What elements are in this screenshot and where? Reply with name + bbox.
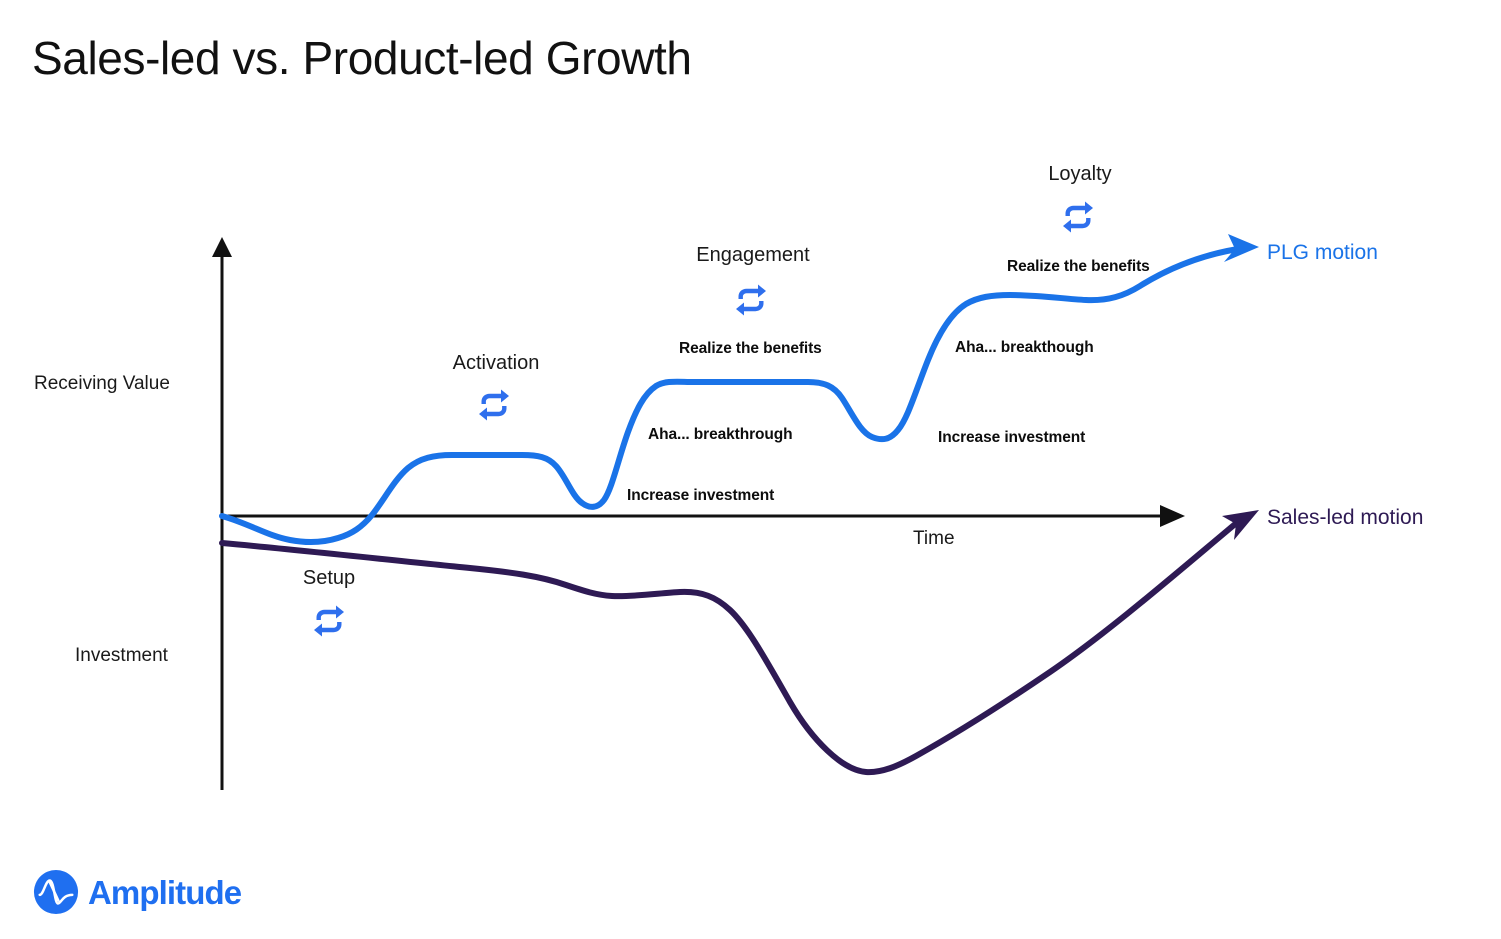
annotation-realize-benefits-1: Realize the benefits <box>679 340 822 358</box>
loop-repeat-icon <box>474 385 514 425</box>
chart-svg <box>0 0 1501 939</box>
stage-label-engagement: Engagement <box>663 244 843 267</box>
amplitude-logo-icon <box>33 869 79 915</box>
annotation-increase-investment-1: Increase investment <box>627 487 774 505</box>
y-axis-lower-label: Investment <box>75 645 168 667</box>
stage-label-loyalty: Loyalty <box>990 163 1170 186</box>
amplitude-logo: Amplitude <box>33 869 241 915</box>
loop-repeat-icon <box>731 280 771 320</box>
annotation-realize-benefits-2: Realize the benefits <box>1007 258 1150 276</box>
loop-repeat-icon <box>309 601 349 641</box>
series-label-sales-led-motion: Sales-led motion <box>1267 506 1423 530</box>
amplitude-wordmark: Amplitude <box>88 876 241 909</box>
annotation-increase-investment-2: Increase investment <box>938 429 1085 447</box>
sales-led-arrowhead <box>1222 510 1259 540</box>
series-label-plg-motion: PLG motion <box>1267 241 1378 265</box>
stage-label-setup: Setup <box>239 567 419 590</box>
sales-led-motion-curve <box>222 510 1259 772</box>
loop-repeat-icon <box>1058 197 1098 237</box>
y-axis-arrowhead <box>212 237 232 257</box>
annotation-aha-breakthrough-1: Aha... breakthrough <box>648 426 793 444</box>
stage-label-activation: Activation <box>406 352 586 375</box>
x-axis-arrowhead <box>1160 505 1185 527</box>
annotation-aha-breakthrough-2: Aha... breakthough <box>955 339 1094 357</box>
y-axis-upper-label: Receiving Value <box>34 373 170 395</box>
diagram-canvas: Sales-led vs. Product-led Growth <box>0 0 1501 939</box>
x-axis-label: Time <box>913 528 955 550</box>
